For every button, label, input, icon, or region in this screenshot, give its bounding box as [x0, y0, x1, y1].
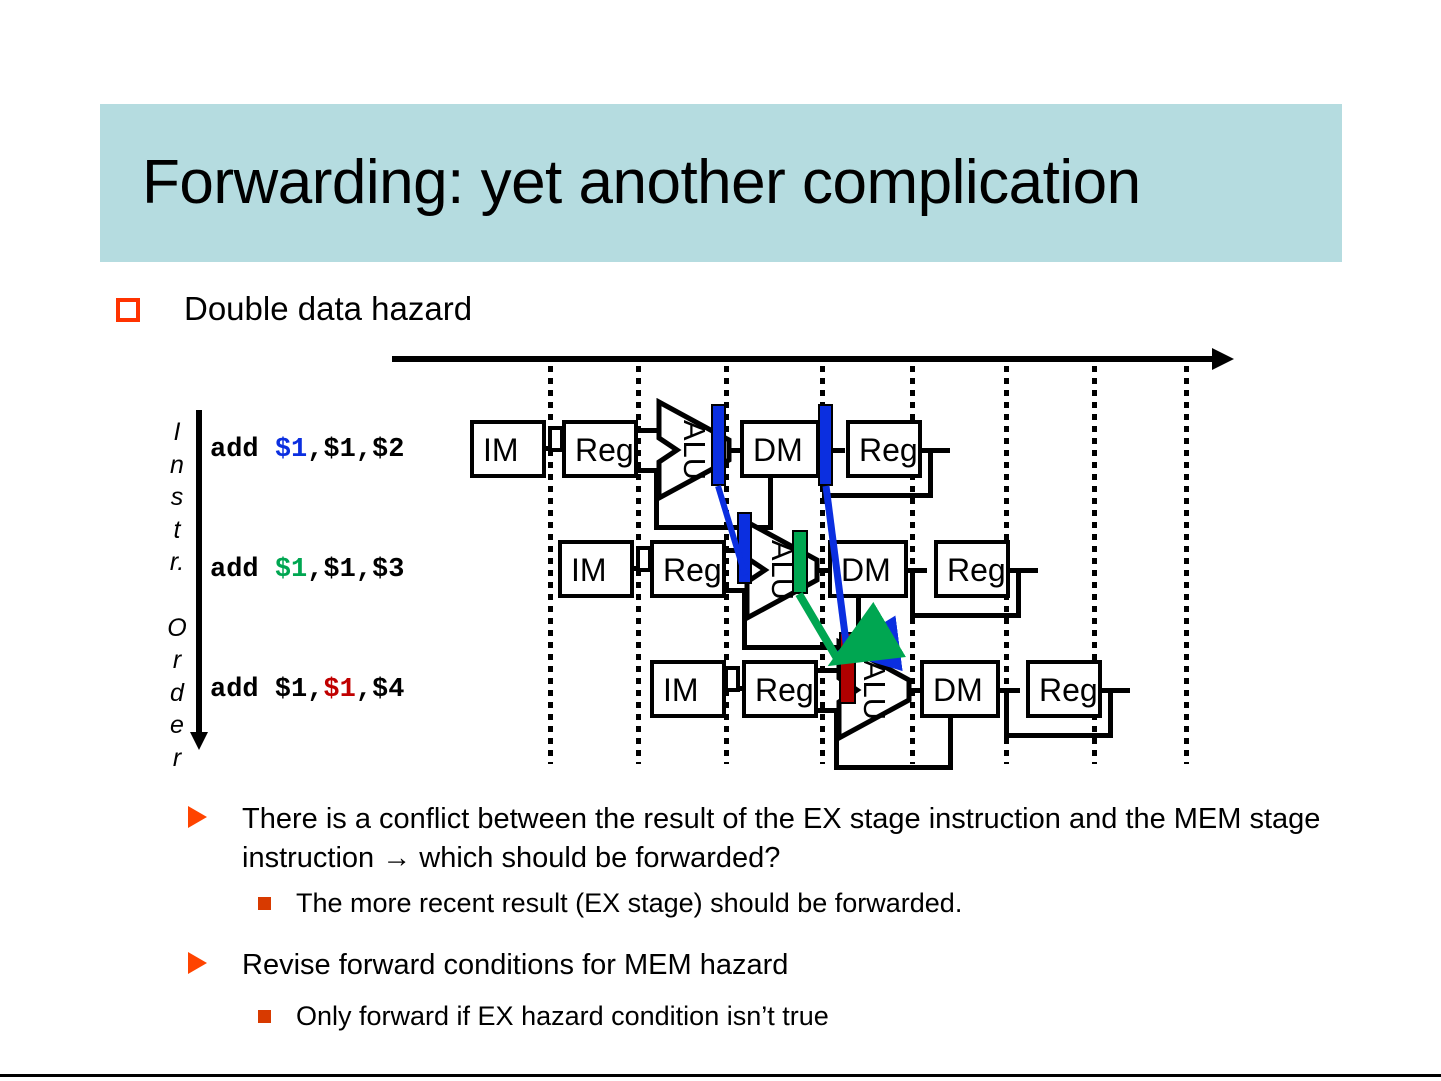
- stage-box-reg-wb-row3: Reg: [1026, 660, 1102, 718]
- order-letter: e: [164, 709, 190, 742]
- time-axis-arrow-icon: [392, 352, 1237, 366]
- ex-result-bar-row1: [711, 404, 726, 486]
- alu-input-forward-bar-row2: [737, 512, 752, 584]
- bullet-level2-revise: Revise forward conditions for MEM hazard: [186, 946, 1366, 985]
- order-letter: O: [164, 612, 190, 645]
- title-band: Forwarding: yet another complication: [100, 104, 1342, 262]
- slide-footer-rule: [0, 1074, 1441, 1077]
- stage-label: Reg: [575, 432, 634, 468]
- wire-r2-mem-bypass-v2: [1016, 568, 1021, 618]
- order-letter: s: [164, 481, 190, 514]
- order-axis-arrowhead: [190, 732, 208, 750]
- ex-result-bar-row2: [792, 530, 808, 594]
- stage-label: DM: [841, 552, 891, 588]
- instr-order-arrow-icon: [196, 410, 206, 752]
- stage-label: Reg: [663, 552, 722, 588]
- wire-r3-alu-loop: [834, 765, 952, 770]
- instr-source-register: $1: [323, 675, 355, 705]
- stage-box-reg-row1: Reg: [562, 420, 638, 478]
- alu-input-conflict-bar-row3: [839, 632, 856, 704]
- instr-order-axis-label: I n s t r. O r d e r: [164, 416, 190, 775]
- stage-box-dm-row2: DM: [828, 540, 908, 598]
- order-letter: I: [164, 416, 190, 449]
- bullet-text: Revise forward conditions for MEM hazard: [242, 949, 788, 981]
- wire-r1-mem-bypass-v2: [928, 448, 933, 498]
- stage-label: Reg: [947, 552, 1006, 588]
- stage-box-im-row2: IM: [558, 540, 634, 598]
- order-letter: n: [164, 449, 190, 482]
- stage-label: IM: [483, 432, 519, 468]
- arrow-bullet-icon: [188, 806, 207, 828]
- wire-r3-mem-bypass-v2: [1108, 688, 1113, 738]
- bullet-level2-conflict: There is a conflict between the result o…: [186, 800, 1366, 878]
- stage-box-dm-row1: DM: [740, 420, 820, 478]
- stage-label: Reg: [859, 432, 918, 468]
- stage-label: IM: [663, 672, 699, 708]
- bullet-text: The more recent result (EX stage) should…: [296, 888, 962, 918]
- stage-box-reg-wb-row1: Reg: [846, 420, 922, 478]
- stage-box-im-row1: IM: [470, 420, 546, 478]
- instr-dest-register: $1: [275, 435, 307, 465]
- bullet-level3-recent-result: The more recent result (EX stage) should…: [186, 884, 1366, 922]
- instr-mnemonic: add $1,: [210, 675, 323, 705]
- order-letter: r: [164, 644, 190, 677]
- order-letter: d: [164, 677, 190, 710]
- time-axis-shaft: [392, 356, 1218, 362]
- wire-r2-mem-bypass-v: [910, 568, 915, 618]
- stage-box-reg-row2: Reg: [650, 540, 726, 598]
- wire-r3-mem-bypass-h: [1004, 733, 1112, 738]
- instr-mnemonic: add: [210, 555, 275, 585]
- instruction-row-1: add $1,$1,$2: [210, 434, 404, 466]
- instr-dest-register: $1: [275, 555, 307, 585]
- wire-r2-mem-bypass-h: [910, 613, 1020, 618]
- order-axis-line: [196, 410, 202, 736]
- stage-label: DM: [933, 672, 983, 708]
- instr-mnemonic: add: [210, 435, 275, 465]
- slide: Forwarding: yet another complication Dou…: [0, 0, 1441, 1081]
- time-axis-arrowhead: [1212, 348, 1234, 370]
- instr-operands: ,$1,$3: [307, 555, 404, 585]
- heading-bullet-label: Double data hazard: [184, 286, 472, 332]
- wire-r3-mem-bypass-v: [1004, 688, 1009, 738]
- stage-box-reg-row3: Reg: [742, 660, 818, 718]
- order-letter: t: [164, 514, 190, 547]
- square-bullet-icon: [258, 897, 271, 910]
- instr-operands: ,$1,$2: [307, 435, 404, 465]
- order-letter: [164, 579, 190, 612]
- arrow-bullet-icon: [188, 952, 207, 974]
- order-letter: r.: [164, 546, 190, 579]
- body-bullet-list: There is a conflict between the result o…: [186, 800, 1366, 1039]
- stage-box-reg-wb-row2: Reg: [934, 540, 1010, 598]
- instr-operands: ,$4: [356, 675, 405, 705]
- bullet-text: There is a conflict between the result o…: [242, 803, 1320, 874]
- pipeline-diagram: I n s t r. O r d e r add $1,$1,$2: [0, 330, 1441, 790]
- clock-divider-8: [1184, 366, 1189, 764]
- wire-r1-mem-bypass-h: [822, 493, 932, 498]
- bullet-level3-only-forward: Only forward if EX hazard condition isn’…: [186, 997, 1366, 1035]
- stage-label: Reg: [1039, 672, 1098, 708]
- stage-box-im-row3: IM: [650, 660, 726, 718]
- stage-label: Reg: [755, 672, 814, 708]
- order-letter: r: [164, 742, 190, 775]
- stage-label: DM: [753, 432, 803, 468]
- alu-unit-row2: ALU: [743, 518, 821, 622]
- square-bullet-icon: [258, 1010, 271, 1023]
- mem-result-bar-row1: [818, 404, 833, 486]
- stage-box-dm-row3: DM: [920, 660, 1000, 718]
- instruction-row-2: add $1,$1,$3: [210, 554, 404, 586]
- stage-label: IM: [571, 552, 607, 588]
- page-title: Forwarding: yet another complication: [142, 124, 1342, 242]
- hollow-square-bullet-icon: [116, 298, 140, 322]
- instruction-row-3: add $1,$1,$4: [210, 674, 404, 706]
- bullet-text: Only forward if EX hazard condition isn’…: [296, 1001, 829, 1031]
- alu-label: ALU: [743, 518, 821, 622]
- latch-r3-if-id: [724, 666, 740, 692]
